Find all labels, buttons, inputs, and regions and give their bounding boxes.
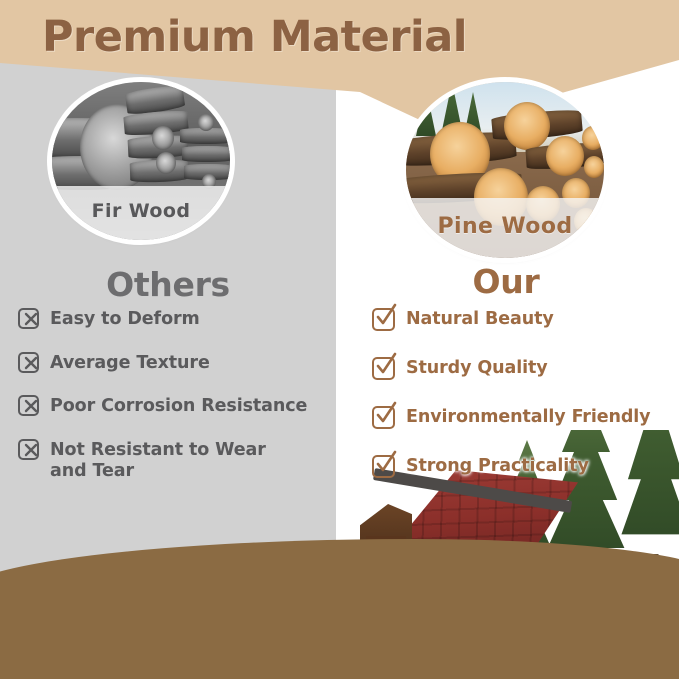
x-box-icon: [18, 308, 39, 329]
fir-wood-photo: Fir Wood: [52, 82, 230, 240]
others-heading: Others: [0, 265, 336, 304]
fir-wood-caption-strip: Fir Wood: [52, 186, 230, 240]
list-item-label: Natural Beauty: [406, 309, 554, 330]
our-heading: Our: [406, 262, 606, 301]
pine-logs-image: Pine Wood: [406, 82, 604, 258]
pine-wood-caption: Pine Wood: [438, 214, 573, 239]
list-item-label: Not Resistant to Wear and Tear: [50, 440, 290, 481]
page-title: Premium Material: [42, 12, 467, 62]
list-item: Poor Corrosion Resistance: [18, 395, 338, 417]
list-item-label: Strong Practicality: [406, 456, 589, 477]
list-item-label: Poor Corrosion Resistance: [50, 396, 307, 417]
check-box-icon: [372, 406, 395, 429]
check-box-icon: [372, 455, 395, 478]
list-item: Sturdy Quality: [372, 357, 672, 380]
pine-wood-photo: Pine Wood: [406, 82, 604, 258]
bottom-band: [0, 539, 679, 679]
list-item-label: Easy to Deform: [50, 309, 200, 330]
list-item-label: Average Texture: [50, 353, 210, 374]
our-feature-list: Natural Beauty Sturdy Quality Environmen…: [372, 308, 672, 504]
infographic-canvas: Premium Material Fir Wood: [0, 0, 679, 679]
fir-wood-caption: Fir Wood: [92, 200, 191, 222]
check-box-icon: [372, 308, 395, 331]
list-item-label: Environmentally Friendly: [406, 407, 651, 428]
grayscale-logs-image: Fir Wood: [52, 82, 230, 240]
list-item: Environmentally Friendly: [372, 406, 672, 429]
list-item: Not Resistant to Wear and Tear: [18, 439, 338, 481]
list-item-label: Sturdy Quality: [406, 358, 548, 379]
list-item: Easy to Deform: [18, 308, 338, 330]
list-item: Strong Practicality: [372, 455, 672, 478]
check-box-icon: [372, 357, 395, 380]
x-box-icon: [18, 439, 39, 460]
list-item: Average Texture: [18, 352, 338, 374]
list-item: Natural Beauty: [372, 308, 672, 331]
x-box-icon: [18, 395, 39, 416]
x-box-icon: [18, 352, 39, 373]
pine-wood-caption-strip: Pine Wood: [406, 198, 604, 258]
others-feature-list: Easy to Deform Average Texture Poor Corr…: [18, 308, 338, 503]
